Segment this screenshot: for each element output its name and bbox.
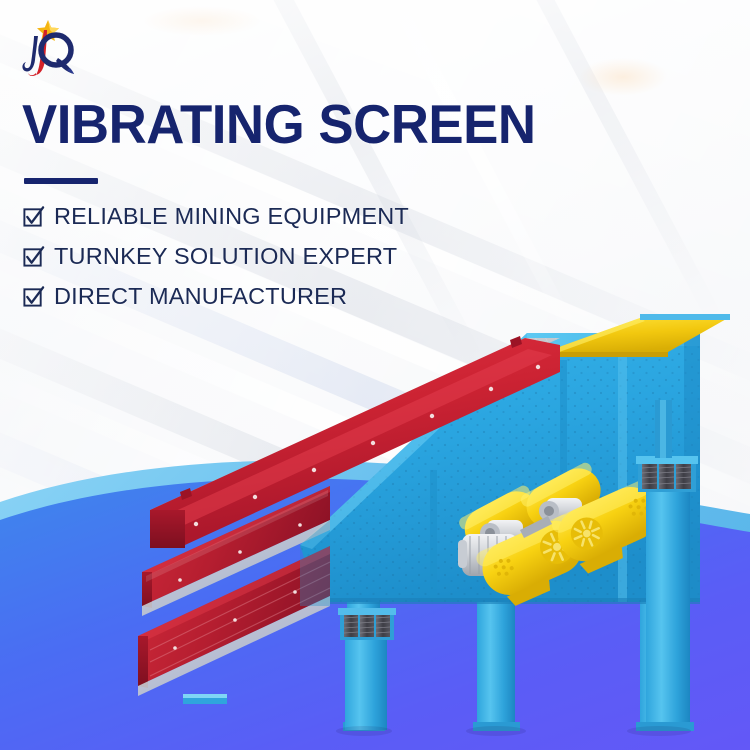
bottom-wave-gradient [0, 450, 750, 750]
logo-navy-q [41, 35, 74, 74]
title-divider [24, 178, 98, 184]
feature-label: DIRECT MANUFACTURER [54, 283, 347, 310]
product-banner: VIBRATING SCREEN RELIABLE MINING EQUIPME… [0, 0, 750, 750]
brand-logo[interactable] [14, 18, 80, 84]
logo-navy-j [22, 36, 38, 71]
checkbox-checked-icon [22, 245, 45, 268]
list-item: DIRECT MANUFACTURER [22, 280, 452, 313]
checkbox-checked-icon [22, 285, 45, 308]
feature-label: RELIABLE MINING EQUIPMENT [54, 203, 409, 230]
checkbox-checked-icon [22, 205, 45, 228]
feature-list: RELIABLE MINING EQUIPMENT TURNKEY SOLUTI… [22, 200, 452, 320]
feature-label: TURNKEY SOLUTION EXPERT [54, 243, 397, 270]
list-item: RELIABLE MINING EQUIPMENT [22, 200, 452, 233]
page-title: VIBRATING SCREEN [22, 96, 536, 152]
list-item: TURNKEY SOLUTION EXPERT [22, 240, 452, 273]
